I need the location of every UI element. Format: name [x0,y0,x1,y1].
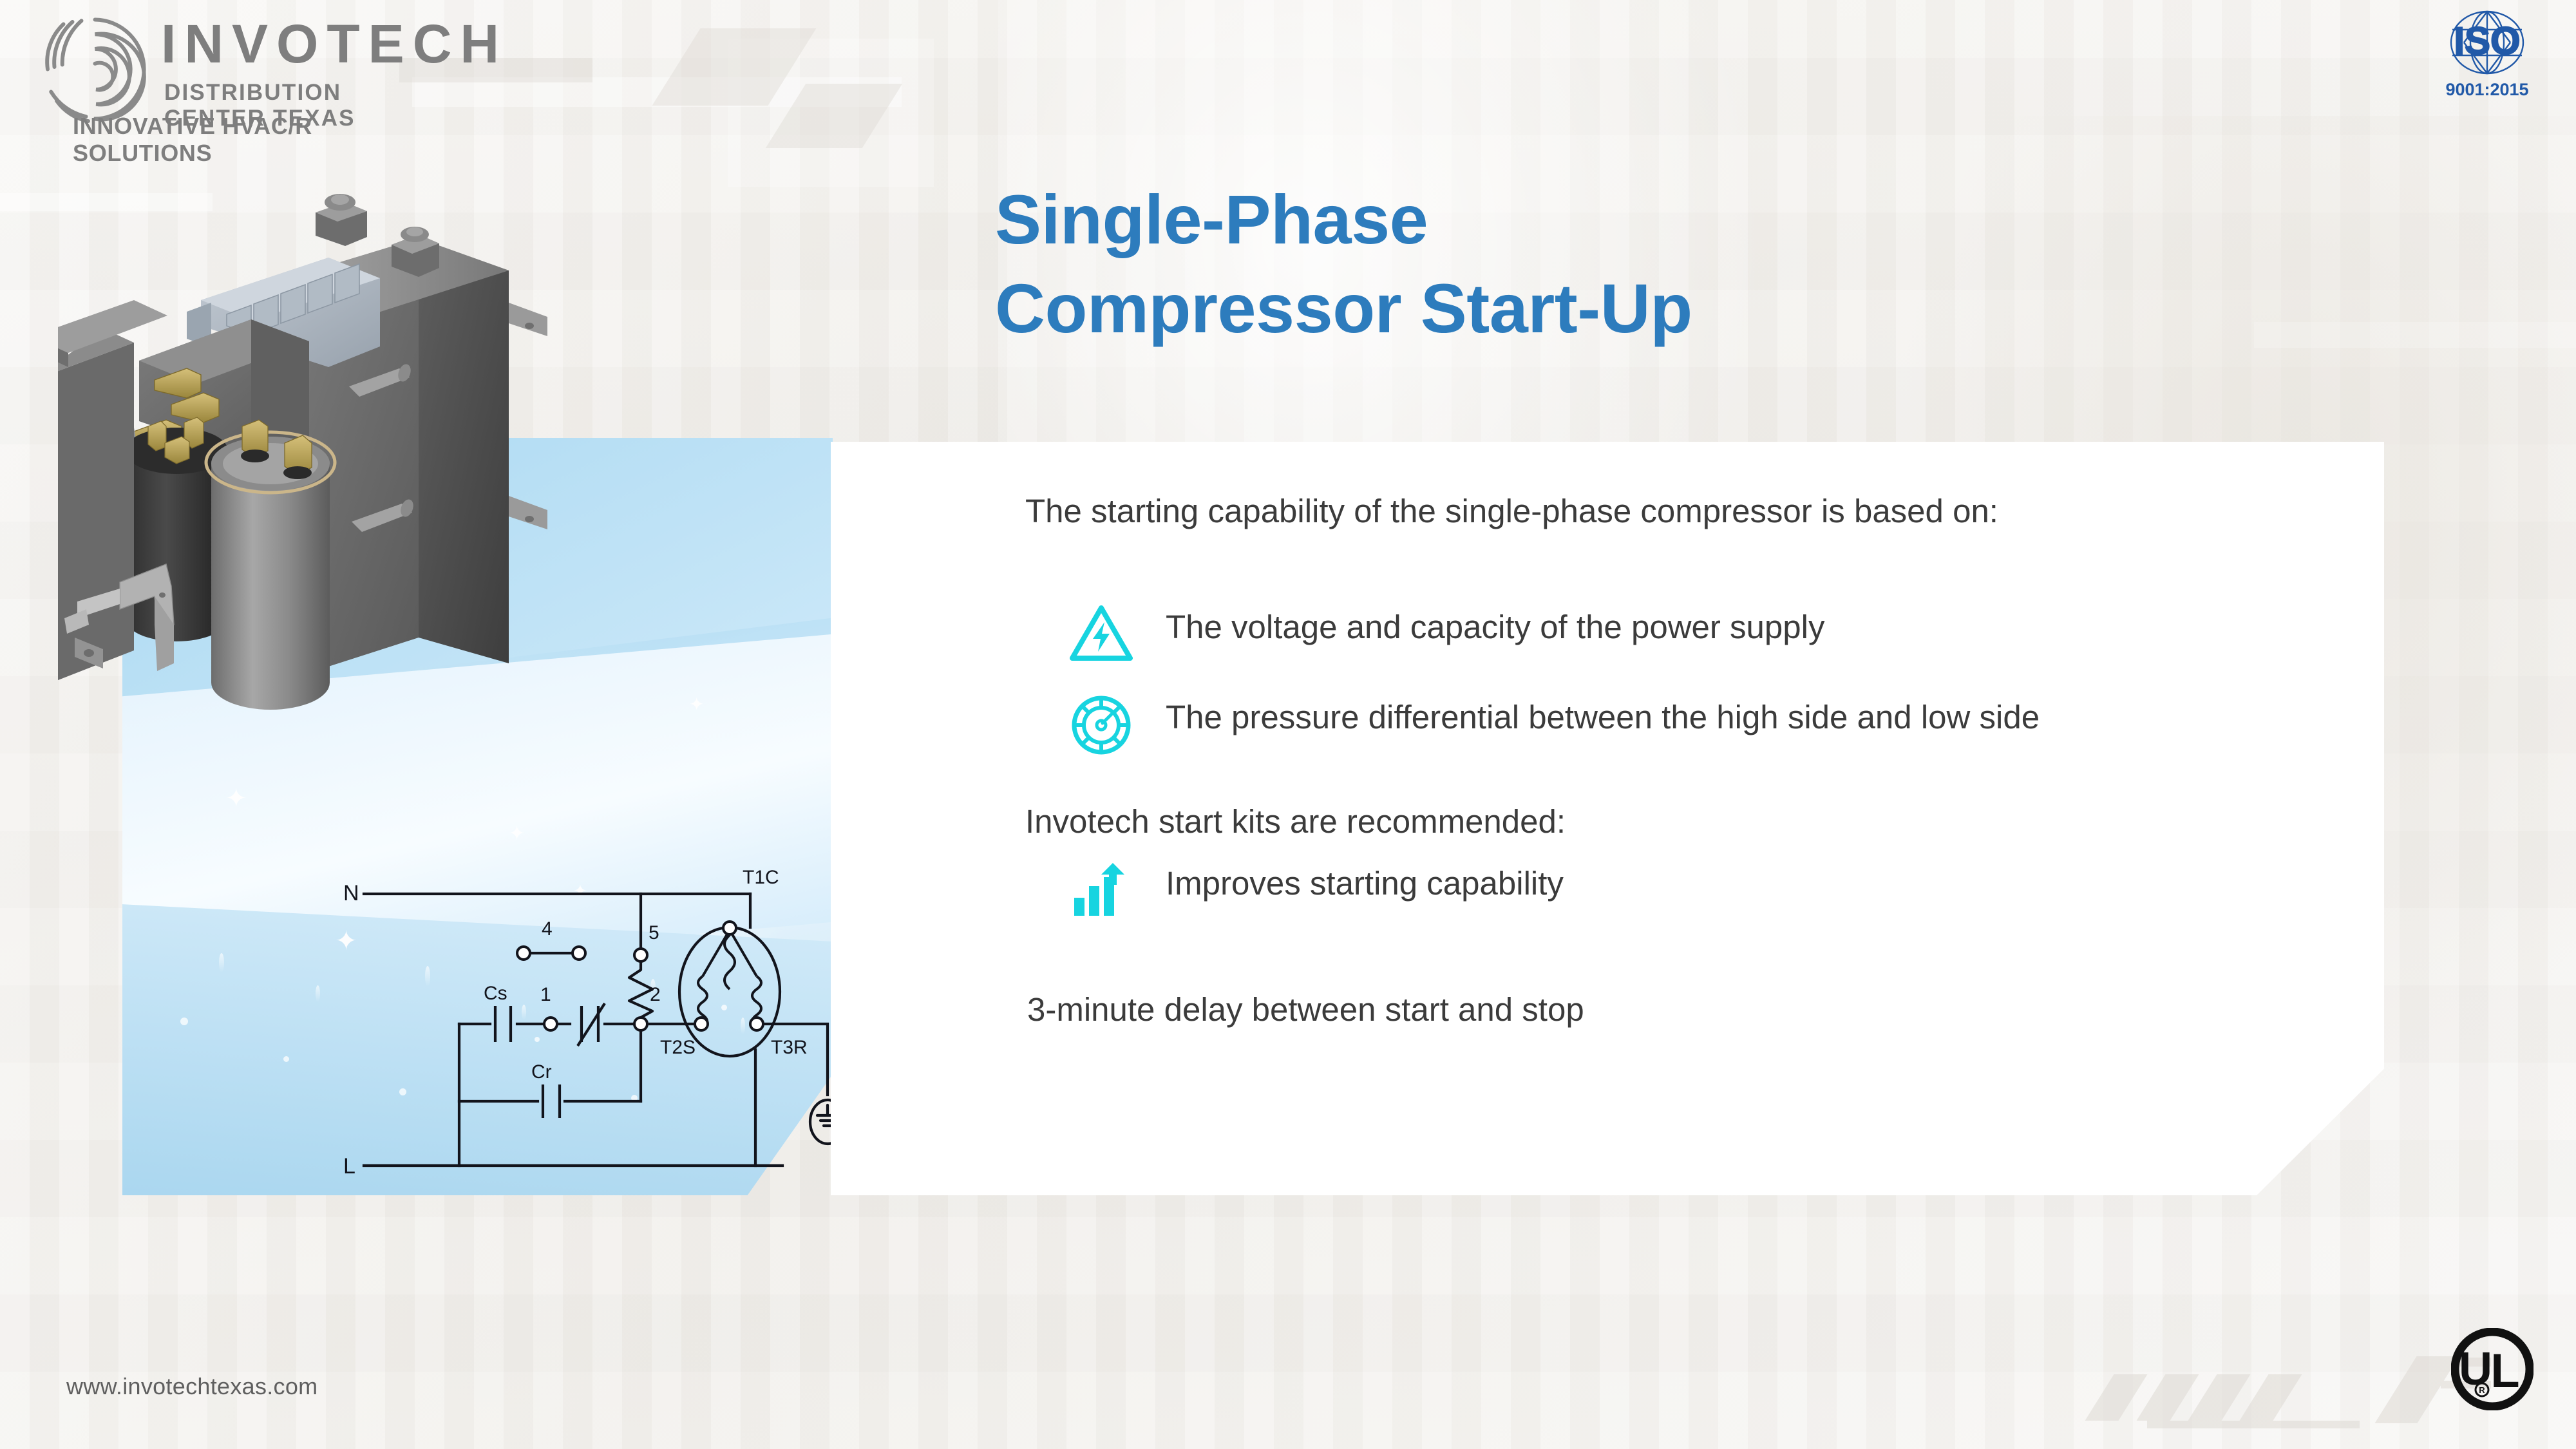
diagram-label-t2s: T2S [660,1037,696,1058]
ul-certification-mark: U L R [2451,1328,2533,1410]
snow-drip-1 [219,953,224,972]
diagram-label-2: 2 [650,984,661,1005]
snow-sparkle-3: ✦ [225,786,247,811]
decorative-chevron-watermark [2080,1327,2479,1436]
diagram-label-t3r: T3R [771,1037,808,1058]
svg-text:L: L [2490,1344,2519,1397]
svg-text:R: R [2479,1385,2485,1395]
bullet-voltage-capacity: The voltage and capacity of the power su… [1069,604,2202,663]
page-title-line-2: Compressor Start-Up [995,264,2090,353]
diagram-label-4: 4 [542,918,553,940]
snow-sparkle-7: ✦ [689,696,704,714]
diagram-label-cr: Cr [531,1061,552,1083]
chevron-bar-3 [2188,1374,2251,1421]
lightning-warning-icon [1069,604,1133,663]
chevron-bar-2 [2137,1374,2199,1421]
growth-bar-chart-icon [1069,860,1133,918]
content-card: The starting capability of the single-ph… [831,442,2384,1195]
snow-flake-1 [180,1018,188,1025]
iso-standard-number: 9001:2015 [2436,80,2539,100]
chevron-underline [2147,1421,2360,1428]
sub-heading: Invotech start kits are recommended: [1025,802,1566,840]
background-shelf-4 [2254,322,2576,348]
diagram-label-5: 5 [649,922,659,943]
brand-logo: INVOTECH DISTRIBUTION CENTER TEXAS INNOV… [35,8,422,159]
chevron-top-bar-3 [766,84,902,148]
pressure-gauge-icon [1069,694,1133,756]
diagram-label-1: 1 [540,984,551,1005]
footer-website-url[interactable]: www.invotechtexas.com [66,1373,317,1400]
bullet-pressure-differential-text: The pressure differential between the hi… [1166,694,2040,741]
chevron-top-bar-2 [652,28,817,106]
page-title-line-1: Single-Phase [995,180,1428,258]
iso-globe-icon: ISO [2436,9,2539,81]
chevron-bar-4 [2240,1374,2302,1421]
bullet-improves-starting-text: Improves starting capability [1166,860,1564,907]
diagram-label-t1c: T1C [743,867,779,888]
snow-sparkle-1: ✦ [251,599,270,621]
diagram-label-cs: Cs [484,983,507,1004]
chevron-bar-1 [2085,1374,2148,1421]
page-title: Single-Phase Compressor Start-Up [995,175,2090,353]
wiring-diagram: N L T1C T2S T3R Cs Cr 1 2 4 5 [338,863,873,1198]
bullet-pressure-differential: The pressure differential between the hi… [1069,694,2222,756]
snow-flake-2 [283,1056,289,1062]
diagram-label-neutral: N [343,881,359,905]
closing-note: 3-minute delay between start and stop [1027,990,1584,1028]
swirl-logo-icon [35,13,155,126]
svg-text:ISO: ISO [2454,19,2520,62]
diagram-label-line: L [343,1154,355,1179]
snow-sparkle-2: ✦ [335,570,360,600]
iso-certification-badge: ISO 9001:2015 [2436,9,2539,102]
snow-sparkle-4: ✦ [509,824,525,844]
bullet-voltage-capacity-text: The voltage and capacity of the power su… [1166,604,1824,650]
brand-name: INVOTECH [161,17,507,71]
lead-paragraph: The starting capability of the single-ph… [1025,488,2133,535]
snow-drip-2 [316,985,320,1002]
brand-tagline-2: INNOVATIVE HVAC/R SOLUTIONS [73,113,422,167]
bullet-improves-starting: Improves starting capability [1069,860,2164,918]
background-shelf-2 [0,193,213,211]
